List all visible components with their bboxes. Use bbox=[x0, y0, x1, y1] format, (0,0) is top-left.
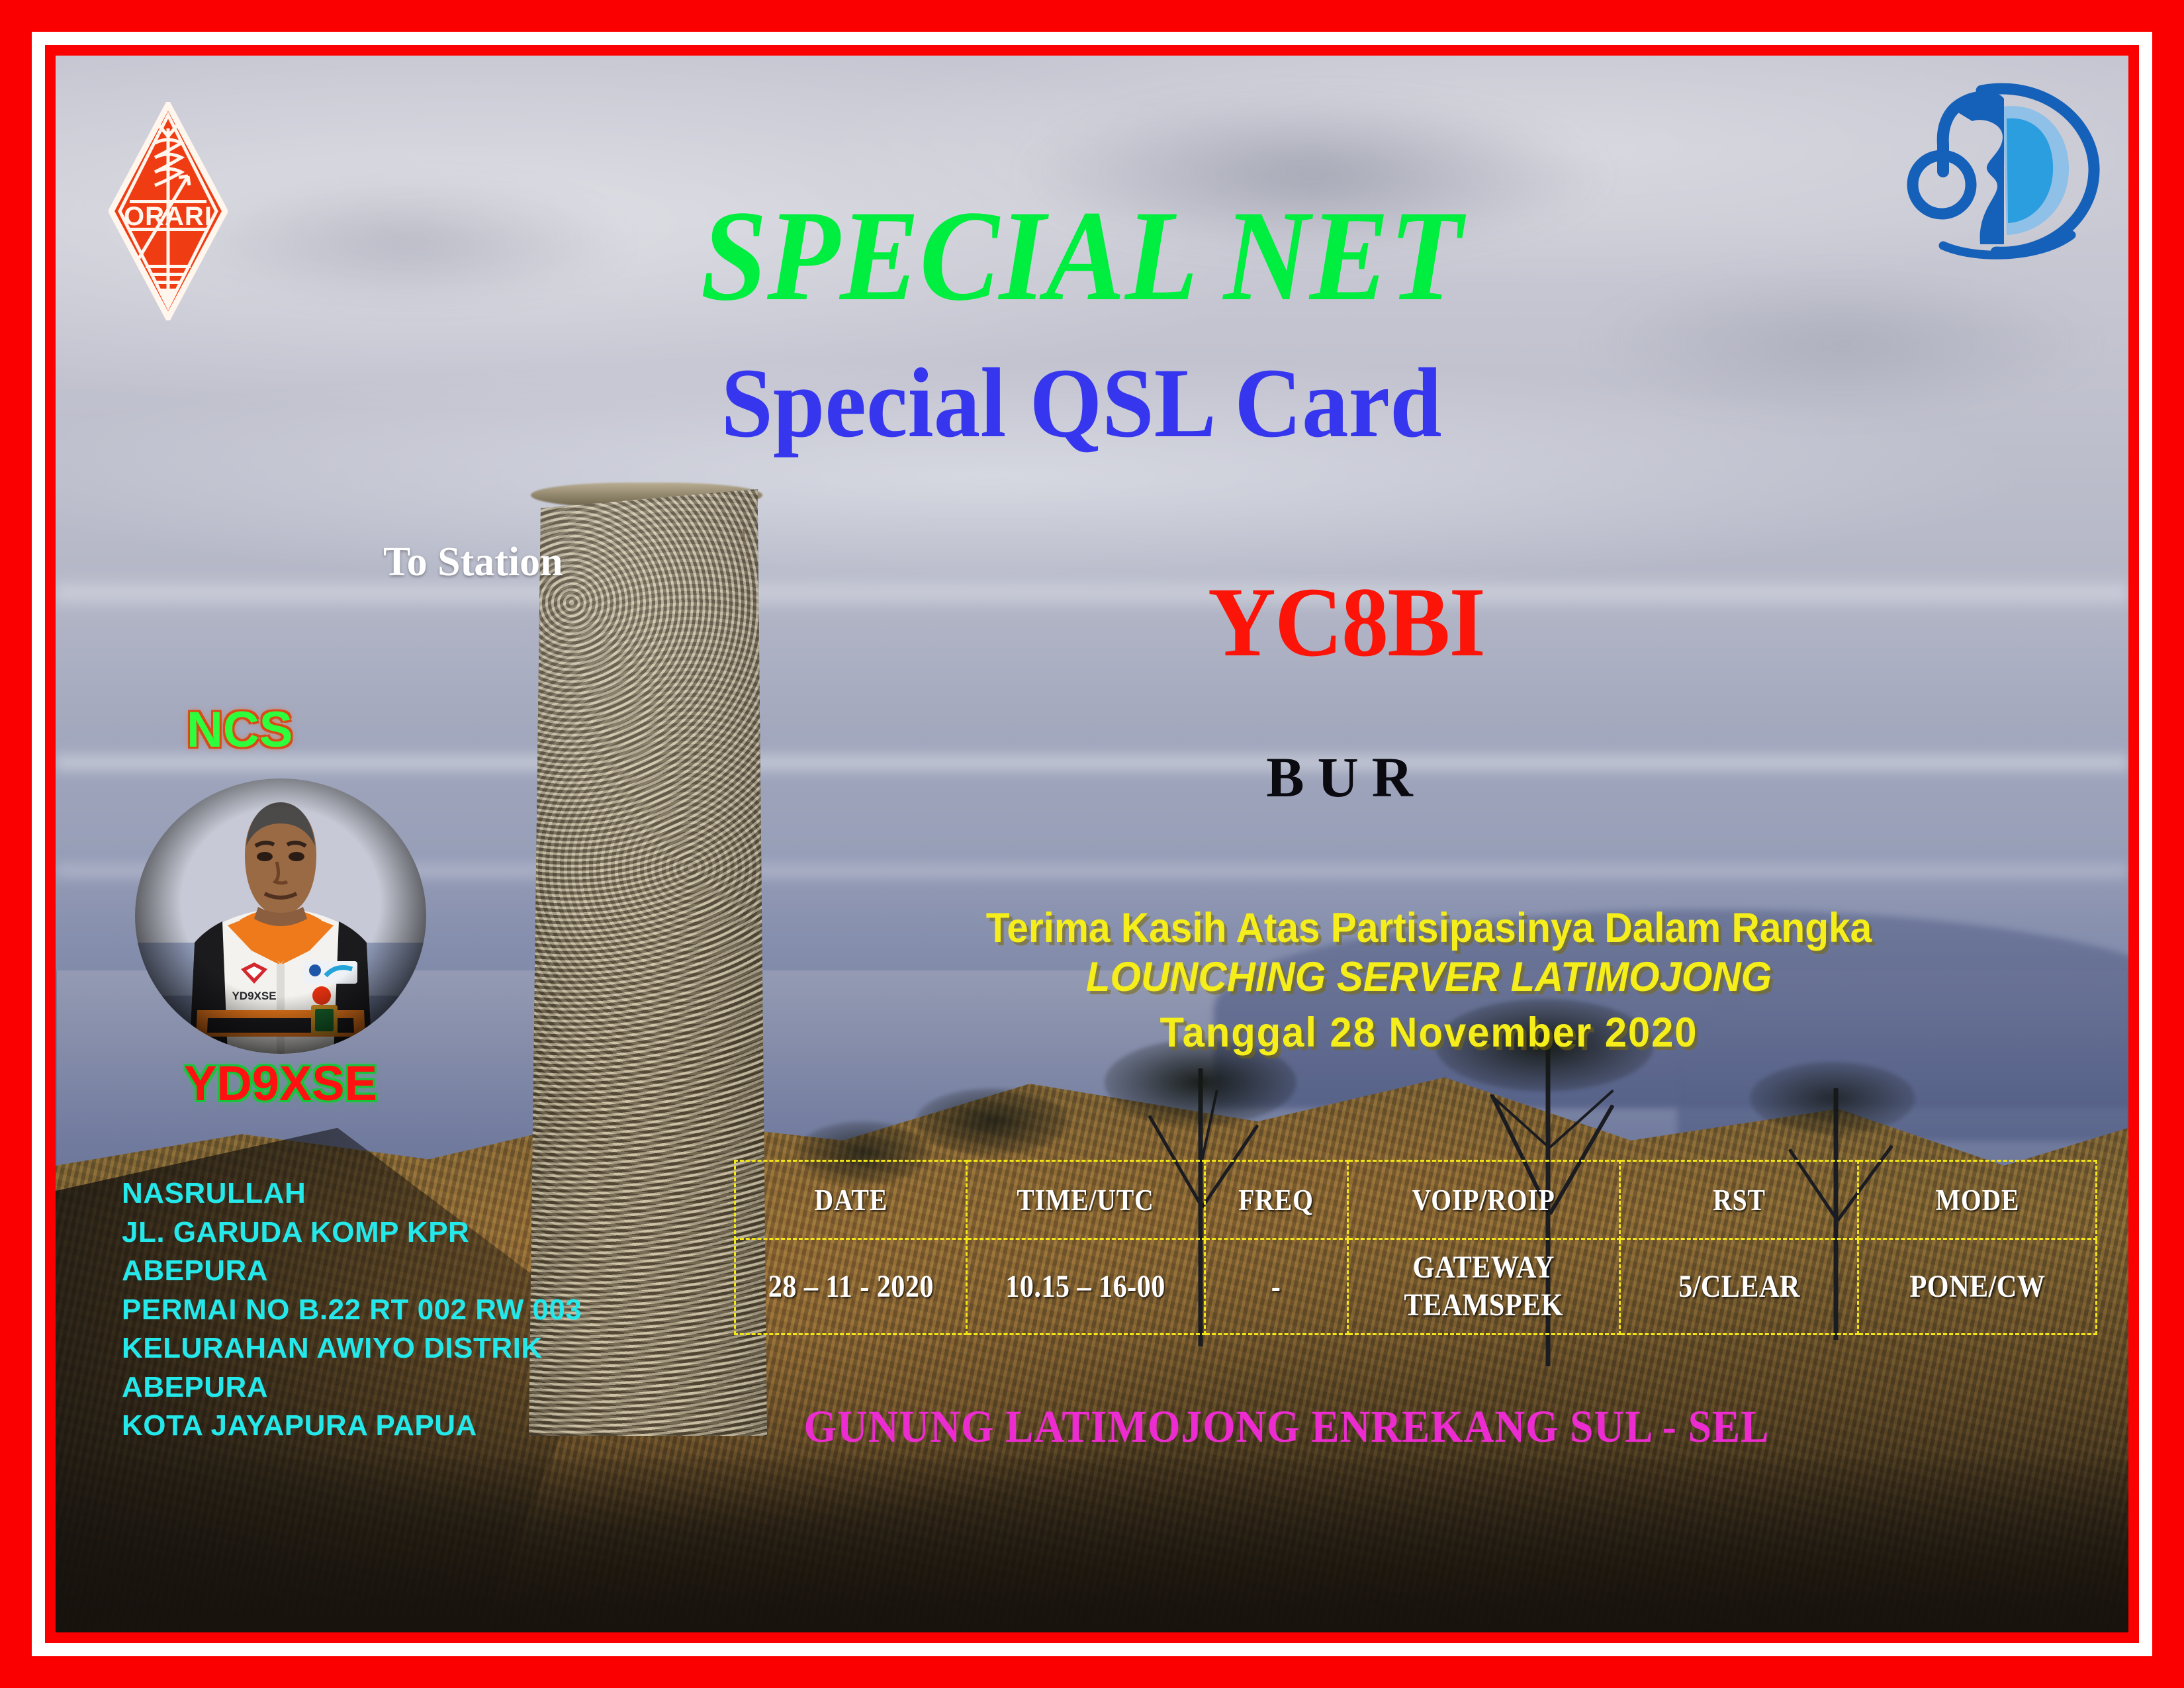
cell-mode: PONE/CW bbox=[1872, 1239, 2082, 1335]
qsl-card-outer-frame: ORARI bbox=[0, 0, 2184, 1688]
event-text-block: Terima Kasih Atas Partisipasinya Dalam R… bbox=[737, 906, 2120, 1063]
cell-voip: GATEWAY TEAMSPEK bbox=[1364, 1239, 1604, 1335]
address-line: ABEPURA bbox=[122, 1252, 671, 1291]
station-callsign: YC8BI bbox=[1001, 565, 1692, 679]
cell-voip-line2: TEAMSPEK bbox=[1365, 1287, 1602, 1325]
address-line: ABEPURA bbox=[122, 1368, 671, 1407]
page-title: SPECIAL NET bbox=[503, 191, 1660, 321]
cell-freq: - bbox=[1213, 1239, 1339, 1335]
qsl-card-inner-red-frame: ORARI bbox=[45, 45, 2139, 1643]
ncs-role-label: NCS bbox=[187, 701, 293, 759]
orari-logo: ORARI bbox=[109, 102, 228, 320]
location-line: GUNUNG LATIMOJONG ENREKANG SUL - SEL bbox=[702, 1401, 1871, 1453]
qsl-card-photo-background: ORARI bbox=[56, 56, 2128, 1632]
qsl-card-white-frame: ORARI bbox=[32, 32, 2152, 1656]
address-line: PERMAI NO B.22 RT 002 RW 003 bbox=[122, 1291, 671, 1330]
column-header-time: TIME/UTC bbox=[981, 1161, 1191, 1239]
event-date-line: Tanggal 28 November 2020 bbox=[772, 1004, 2086, 1062]
event-thanks-line: Terima Kasih Atas Partisipasinya Dalam R… bbox=[786, 906, 2072, 951]
cell-date: 28 – 11 - 2020 bbox=[749, 1239, 952, 1335]
column-header-date: DATE bbox=[749, 1161, 952, 1239]
card-content-layer: ORARI bbox=[56, 56, 2128, 1632]
table-header-row: DATE TIME/UTC FREQ VOIP/ROIP RST MODE bbox=[735, 1161, 2097, 1239]
column-header-mode: MODE bbox=[1872, 1161, 2082, 1239]
page-subtitle: Special QSL Card bbox=[490, 353, 1672, 453]
column-header-freq: FREQ bbox=[1213, 1161, 1339, 1239]
operator-portrait: YD9XSE bbox=[128, 777, 433, 1055]
svg-text:ORARI: ORARI bbox=[124, 202, 212, 231]
table-row: 28 – 11 - 2020 10.15 – 16-00 - GATEWAY T… bbox=[735, 1239, 2097, 1335]
address-block: NASRULLAH JL. GARUDA KOMP KPR ABEPURA PE… bbox=[122, 1174, 671, 1446]
cell-time: 10.15 – 16-00 bbox=[981, 1239, 1191, 1335]
column-header-rst: RST bbox=[1634, 1161, 1844, 1239]
to-station-label: To Station bbox=[383, 539, 563, 586]
confirm-code: BUR bbox=[982, 744, 1710, 810]
qso-log-table: DATE TIME/UTC FREQ VOIP/ROIP RST MODE 28… bbox=[734, 1160, 2097, 1335]
address-line: KELURAHAN AWIYO DISTRIK bbox=[122, 1329, 671, 1368]
cell-rst: 5/CLEAR bbox=[1634, 1239, 1844, 1335]
headset-profile-icon bbox=[1903, 72, 2102, 264]
address-line: NASRULLAH bbox=[122, 1174, 671, 1213]
address-line: KOTA JAYAPURA PAPUA bbox=[122, 1407, 671, 1446]
event-name-line: LOUNCHING SERVER LATIMOJONG bbox=[772, 951, 2086, 1004]
address-line: JL. GARUDA KOMP KPR bbox=[122, 1213, 671, 1252]
column-header-voip: VOIP/ROIP bbox=[1364, 1161, 1604, 1239]
ncs-callsign: YD9XSE bbox=[148, 1055, 413, 1111]
cell-voip-line1: GATEWAY bbox=[1365, 1249, 1602, 1287]
